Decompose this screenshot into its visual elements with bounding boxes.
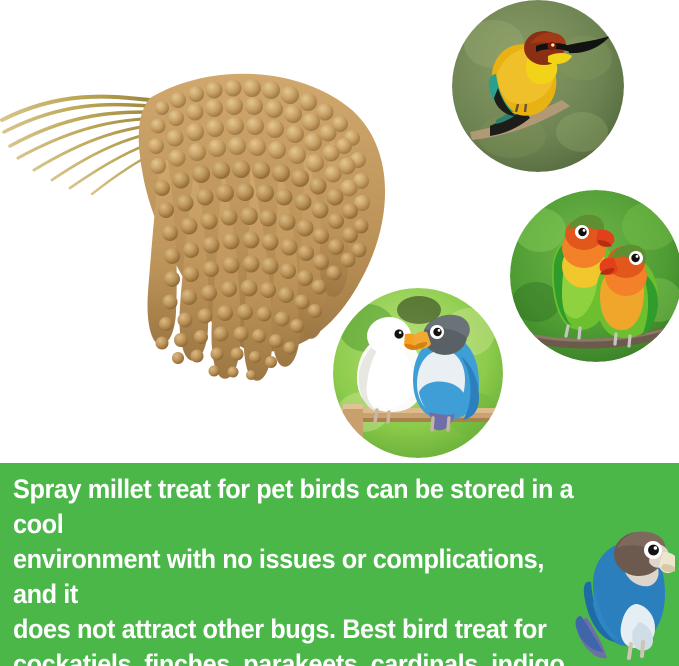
product-listing-image: Spray millet treat for pet birds can be … (0, 0, 679, 666)
photo-circle-bee-eater (452, 0, 624, 172)
white-and-blue-lovebirds-photo (333, 288, 503, 458)
lovebirds-pair-photo (510, 190, 679, 362)
bee-eater-photo (452, 0, 624, 172)
banner-blue-masked-lovebird (565, 526, 675, 666)
caption-banner: Spray millet treat for pet birds can be … (0, 463, 679, 666)
caption-text: Spray millet treat for pet birds can be … (13, 472, 586, 666)
blue-masked-lovebird-cutout (565, 526, 675, 666)
photo-circle-lovebirds-pair (510, 190, 679, 362)
photo-circle-white-and-blue-lovebirds (333, 288, 503, 458)
